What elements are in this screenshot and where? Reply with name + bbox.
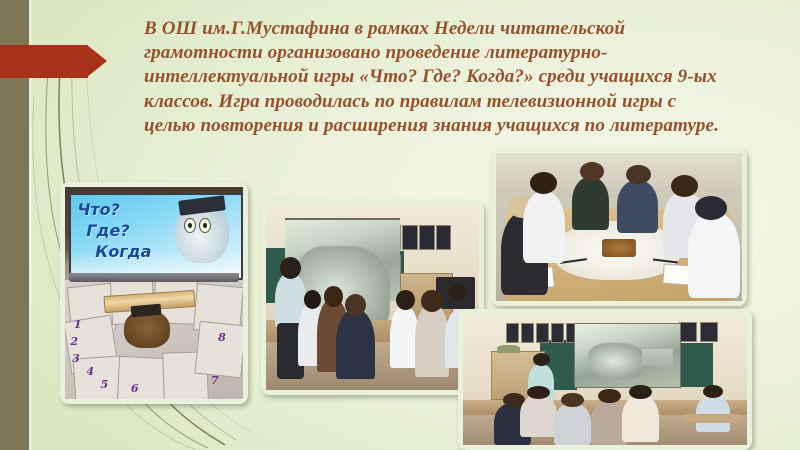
sheet-number: 5 [101,378,109,391]
student-figure [617,180,659,233]
photo-game-board-screen-image: 1 2 3 4 5 6 7 8 Что? Где? [65,187,243,399]
owl-graduation-cap [130,303,161,316]
student-head [695,196,727,220]
student-head [561,393,584,407]
student-head [580,162,605,181]
student-head [345,294,366,316]
photo-students-round-table-image [496,153,742,301]
answer-sheet [72,355,123,399]
portrait-frame [679,322,697,342]
student-head [527,386,550,399]
student-head [626,165,651,184]
sheet-number: 3 [72,352,80,365]
sheet-number: 4 [86,365,94,378]
arrow-accent [0,45,107,78]
photo-classroom-projector [261,200,484,395]
student-figure [688,212,740,298]
owl-eye-left [184,218,196,234]
student-figure [520,395,557,437]
portrait-frame [402,225,417,249]
portrait-frame [436,225,451,249]
board-title-line-2: Где? [86,221,129,240]
photo-game-board-screen: 1 2 3 4 5 6 7 8 Что? Где? [60,182,248,404]
title-line-2: грамотности организовано проведение лите… [144,41,764,65]
title-line-3: интеллектуальной игры «Что? Где? Когда?»… [144,65,764,89]
portrait-frame [521,323,534,343]
green-chalkboard-right [676,343,713,388]
student-figure [523,191,565,262]
student-head [324,286,343,306]
sheet-number: 8 [218,331,226,344]
sheet-number: 7 [211,374,219,387]
sheet-number: 6 [131,382,139,395]
board-title-line-3: Когда [95,242,151,261]
presentation-slide: В ОШ им.Г.Мустафина в рамках Недели чита… [0,0,800,450]
photo-teacher-presenting-image [463,314,747,445]
projected-image [588,343,645,380]
board-title-line-1: Что? [77,200,119,219]
owl-pupil-left [188,223,192,229]
title-line-5: целью повторения и расширения знания уча… [144,114,764,138]
student-head [598,389,621,403]
owl-pupil-right [203,223,207,229]
teacher-head [533,353,550,366]
answer-sheet [194,320,243,377]
slide-title-text: В ОШ им.Г.Мустафина в рамках Недели чита… [144,17,764,138]
title-line-4: классов. Игра проводилась по правилам те… [144,90,764,114]
student-head [629,385,652,399]
photo-teacher-presenting [458,309,752,450]
sheet-number: 1 [74,318,82,331]
title-line-1: В ОШ им.Г.Мустафина в рамках Недели чита… [144,17,764,41]
student-figure [622,395,659,442]
arrow-head [87,45,107,77]
student-figure [554,403,591,445]
whiteboard-frame [69,273,240,283]
student-head [671,175,698,197]
wall-portraits-right [679,322,741,340]
portrait-frame [536,323,549,343]
portrait-frame [506,323,519,343]
student-head [304,290,321,309]
student-head [703,385,723,398]
projected-text-block [642,349,673,366]
game-board-center-image [602,239,636,257]
arrow-body [0,45,88,78]
answer-sheet [117,355,168,399]
portrait-frame [419,225,434,249]
student-figure [336,309,374,379]
potted-plant [497,345,520,353]
student-head [421,290,442,312]
student-desk [685,414,742,423]
portrait-frame [700,322,718,342]
owl-eye-right [199,218,211,234]
photo-classroom-projector-image [266,205,479,390]
portrait-frame [551,323,564,343]
sheet-number: 2 [70,335,78,348]
student-figure [572,177,609,230]
teacher-head [280,257,301,279]
photo-students-round-table [491,148,747,306]
